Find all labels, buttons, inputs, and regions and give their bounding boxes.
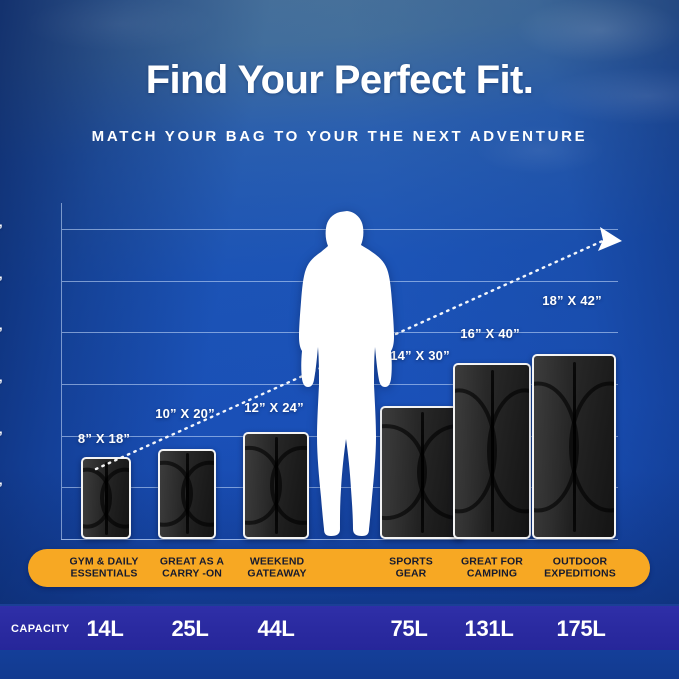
capacity-value: 14L [86, 616, 123, 642]
y-axis-tick-label: 60” [0, 273, 3, 289]
x-axis-line [61, 539, 618, 540]
bag-seam [421, 412, 424, 533]
page-subtitle: MATCH YOUR BAG TO YOUR THE NEXT ADVENTUR… [0, 128, 679, 145]
gridline [62, 281, 618, 282]
capacity-value: 25L [171, 616, 208, 642]
bottom-strip [0, 650, 679, 679]
bag-dimension-label: 10” X 20” [155, 406, 215, 421]
capacity-value: 44L [257, 616, 294, 642]
bag-seam [491, 370, 494, 532]
usecase-item[interactable]: GREAT FOR CAMPING [461, 556, 523, 581]
page-title: Find Your Perfect Fit. [0, 60, 679, 100]
bag-bar[interactable] [532, 354, 616, 539]
bag-bar[interactable] [81, 457, 131, 539]
usecase-item[interactable]: WEEKEND GATEAWAY [247, 556, 306, 581]
bag-dimension-label: 14” X 30” [390, 348, 450, 363]
bag-bar[interactable] [380, 406, 464, 539]
usecase-item[interactable]: OUTDOOR EXPEDITIONS [544, 556, 616, 581]
bag-bar[interactable] [243, 432, 309, 539]
y-axis-tick-label: 72” [0, 221, 3, 237]
y-axis-tick-label: 12” [0, 479, 3, 495]
bag-dimension-label: 8” X 18” [78, 431, 130, 446]
capacity-value: 131L [465, 616, 514, 642]
gridline [62, 332, 618, 333]
bag-seam [573, 362, 576, 532]
bag-seam [105, 462, 108, 535]
bag-dimension-label: 18” X 42” [542, 293, 602, 308]
bag-bar[interactable] [158, 449, 216, 539]
infographic-root: Find Your Perfect Fit. MATCH YOUR BAG TO… [0, 0, 679, 679]
bag-bar[interactable] [453, 363, 531, 539]
y-axis-tick-label: 48” [0, 324, 3, 340]
bag-seam [186, 453, 189, 534]
usecase-item[interactable]: SPORTS GEAR [389, 556, 433, 581]
gridline [62, 229, 618, 230]
bag-dimension-label: 16” X 40” [460, 326, 520, 341]
bag-dimension-label: 12” X 24” [244, 400, 304, 415]
y-axis-tick-label: 36” [0, 376, 3, 392]
bag-size-chart: 8” X 18”10” X 20”12” X 24”14” X 30”16” X… [62, 203, 618, 539]
capacity-value: 75L [390, 616, 427, 642]
bag-seam [275, 437, 278, 534]
usecase-item[interactable]: GREAT AS A CARRY -ON [160, 556, 224, 581]
capacity-band: CAPACITY 14L25L44L75L131L175L [0, 604, 679, 654]
y-axis-line [61, 203, 62, 539]
capacity-label: CAPACITY [11, 623, 70, 635]
capacity-value: 175L [557, 616, 606, 642]
usecase-item[interactable]: GYM & DAILY ESSENTIALS [70, 556, 139, 581]
bag-arc-right [569, 381, 616, 512]
bag-arc-right [487, 388, 531, 513]
y-axis-tick-label: 24” [0, 428, 3, 444]
usecase-band: GYM & DAILY ESSENTIALSGREAT AS A CARRY -… [28, 549, 650, 587]
